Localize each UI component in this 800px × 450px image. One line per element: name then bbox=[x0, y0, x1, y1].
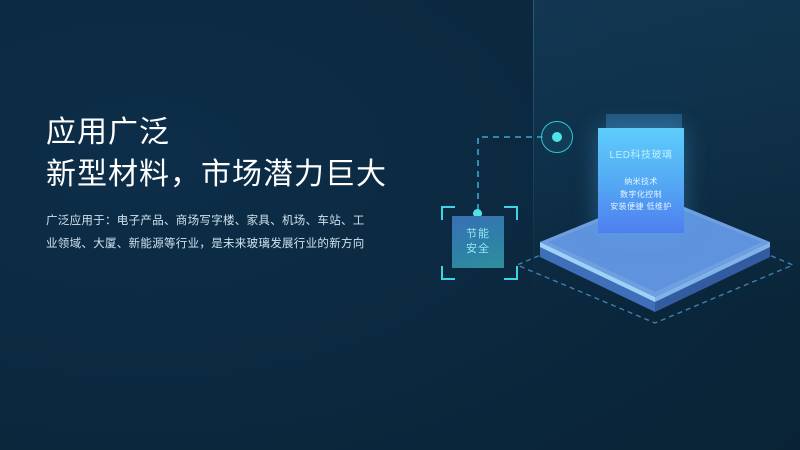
text-block: 应用广泛 新型材料，市场潜力巨大 广泛应用于：电子产品、商场写字楼、家具、机场、… bbox=[46, 112, 466, 256]
bracket-bottom-left-icon bbox=[441, 266, 455, 280]
slide-canvas: 应用广泛 新型材料，市场潜力巨大 广泛应用于：电子产品、商场写字楼、家具、机场、… bbox=[0, 0, 800, 450]
panel-feature-list: 纳米技术 数字化控制 安装便捷 低维护 bbox=[598, 176, 684, 214]
callout-box: 节能 安全 bbox=[452, 216, 504, 268]
node-center-dot-icon bbox=[552, 132, 562, 142]
callout-line-1: 节能 bbox=[466, 227, 490, 242]
panel-feature-item: 数字化控制 bbox=[598, 189, 684, 202]
callout-line-2: 安全 bbox=[466, 242, 490, 257]
body-paragraph: 广泛应用于：电子产品、商场写字楼、家具、机场、车站、工业领域、大厦、新能源等行业… bbox=[46, 210, 366, 256]
panel-feature-item: 纳米技术 bbox=[598, 176, 684, 189]
panel-title: LED科技玻璃 bbox=[598, 146, 684, 161]
page-title: 应用广泛 新型材料，市场潜力巨大 bbox=[46, 112, 466, 196]
headline-line-1: 应用广泛 bbox=[46, 116, 170, 149]
headline-line-2: 新型材料，市场潜力巨大 bbox=[46, 154, 466, 196]
panel-feature-item: 安装便捷 低维护 bbox=[598, 201, 684, 214]
glass-panel: LED科技玻璃 纳米技术 数字化控制 安装便捷 低维护 bbox=[598, 128, 684, 233]
